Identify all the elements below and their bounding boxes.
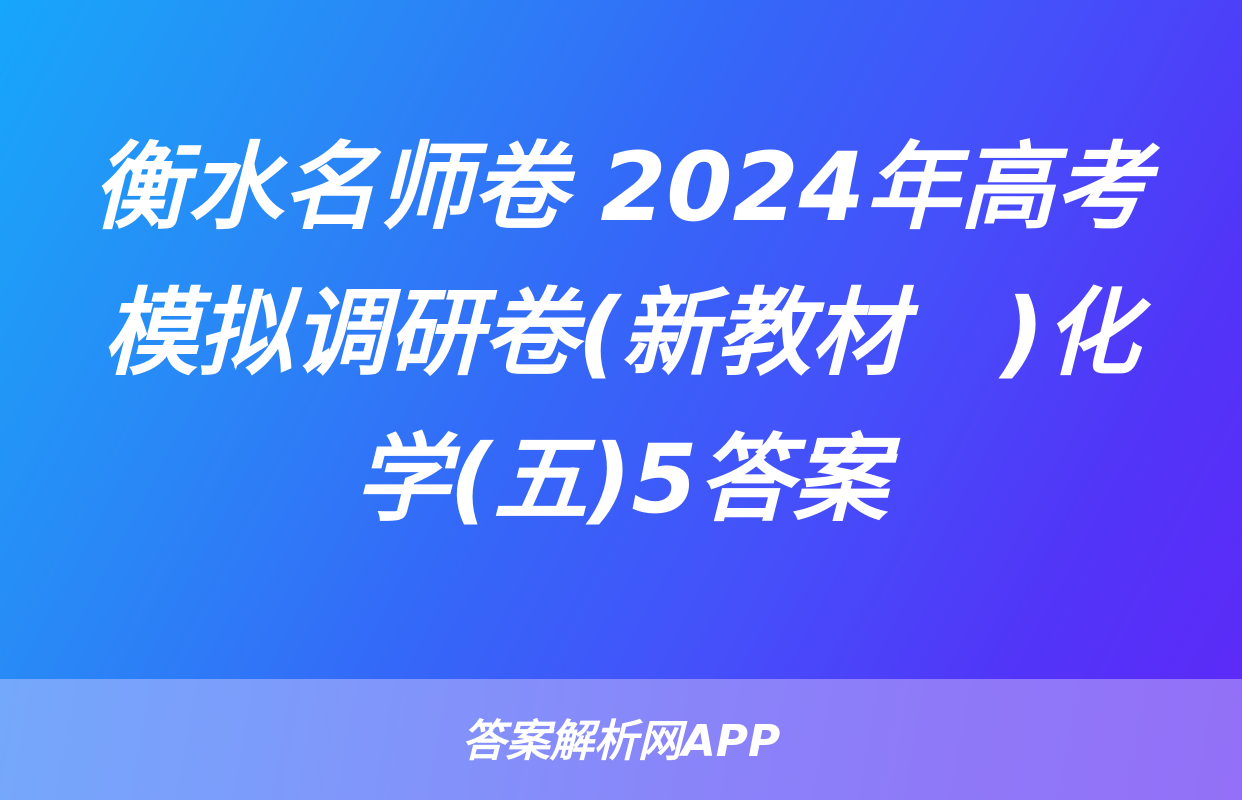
watermark-band: 答案解析网APP: [0, 679, 1242, 800]
poster-card: 衡水名师卷 2024年高考模拟调研卷(新教材 )化学(五)5答案 答案解析网AP…: [0, 0, 1242, 800]
app-watermark-label: 答案解析网APP: [462, 720, 781, 764]
page-title: 衡水名师卷 2024年高考模拟调研卷(新教材 )化学(五)5答案: [77, 115, 1165, 553]
hero-gradient-banner: 衡水名师卷 2024年高考模拟调研卷(新教材 )化学(五)5答案: [0, 0, 1242, 679]
